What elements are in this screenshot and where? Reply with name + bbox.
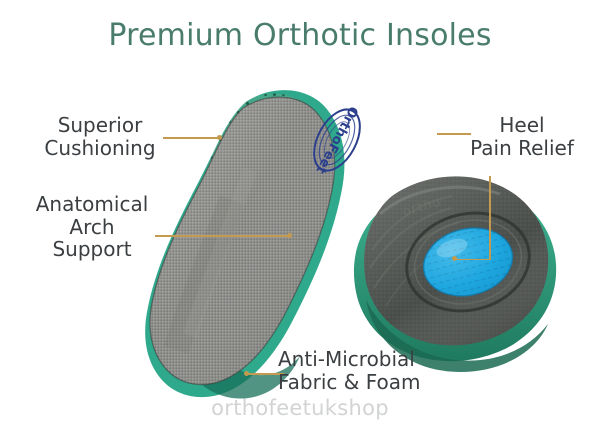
callout-label-superior-cushioning: Superior Cushioning xyxy=(20,114,180,159)
leader-dot-cushioning xyxy=(217,135,222,140)
leader-dot-fabric xyxy=(244,371,249,376)
watermark: orthofeetukshop xyxy=(0,396,600,420)
callout-label-anti-microbial-fabric-foam: Anti-Microbial Fabric & Foam xyxy=(278,348,528,393)
leader-dot-arch xyxy=(287,233,292,238)
leader-dot-heel xyxy=(452,256,457,261)
right-insole-underside: ortho xyxy=(350,160,570,372)
callout-label-heel-pain-relief: Heel Pain Relief xyxy=(452,114,592,159)
leader-line-heel-horizontal xyxy=(455,259,491,261)
leader-line-heel-vertical xyxy=(489,176,491,260)
insole-infographic: Premium Orthotic Insoles xyxy=(0,0,600,424)
callout-label-anatomical-arch-support: Anatomical Arch Support xyxy=(8,193,176,261)
